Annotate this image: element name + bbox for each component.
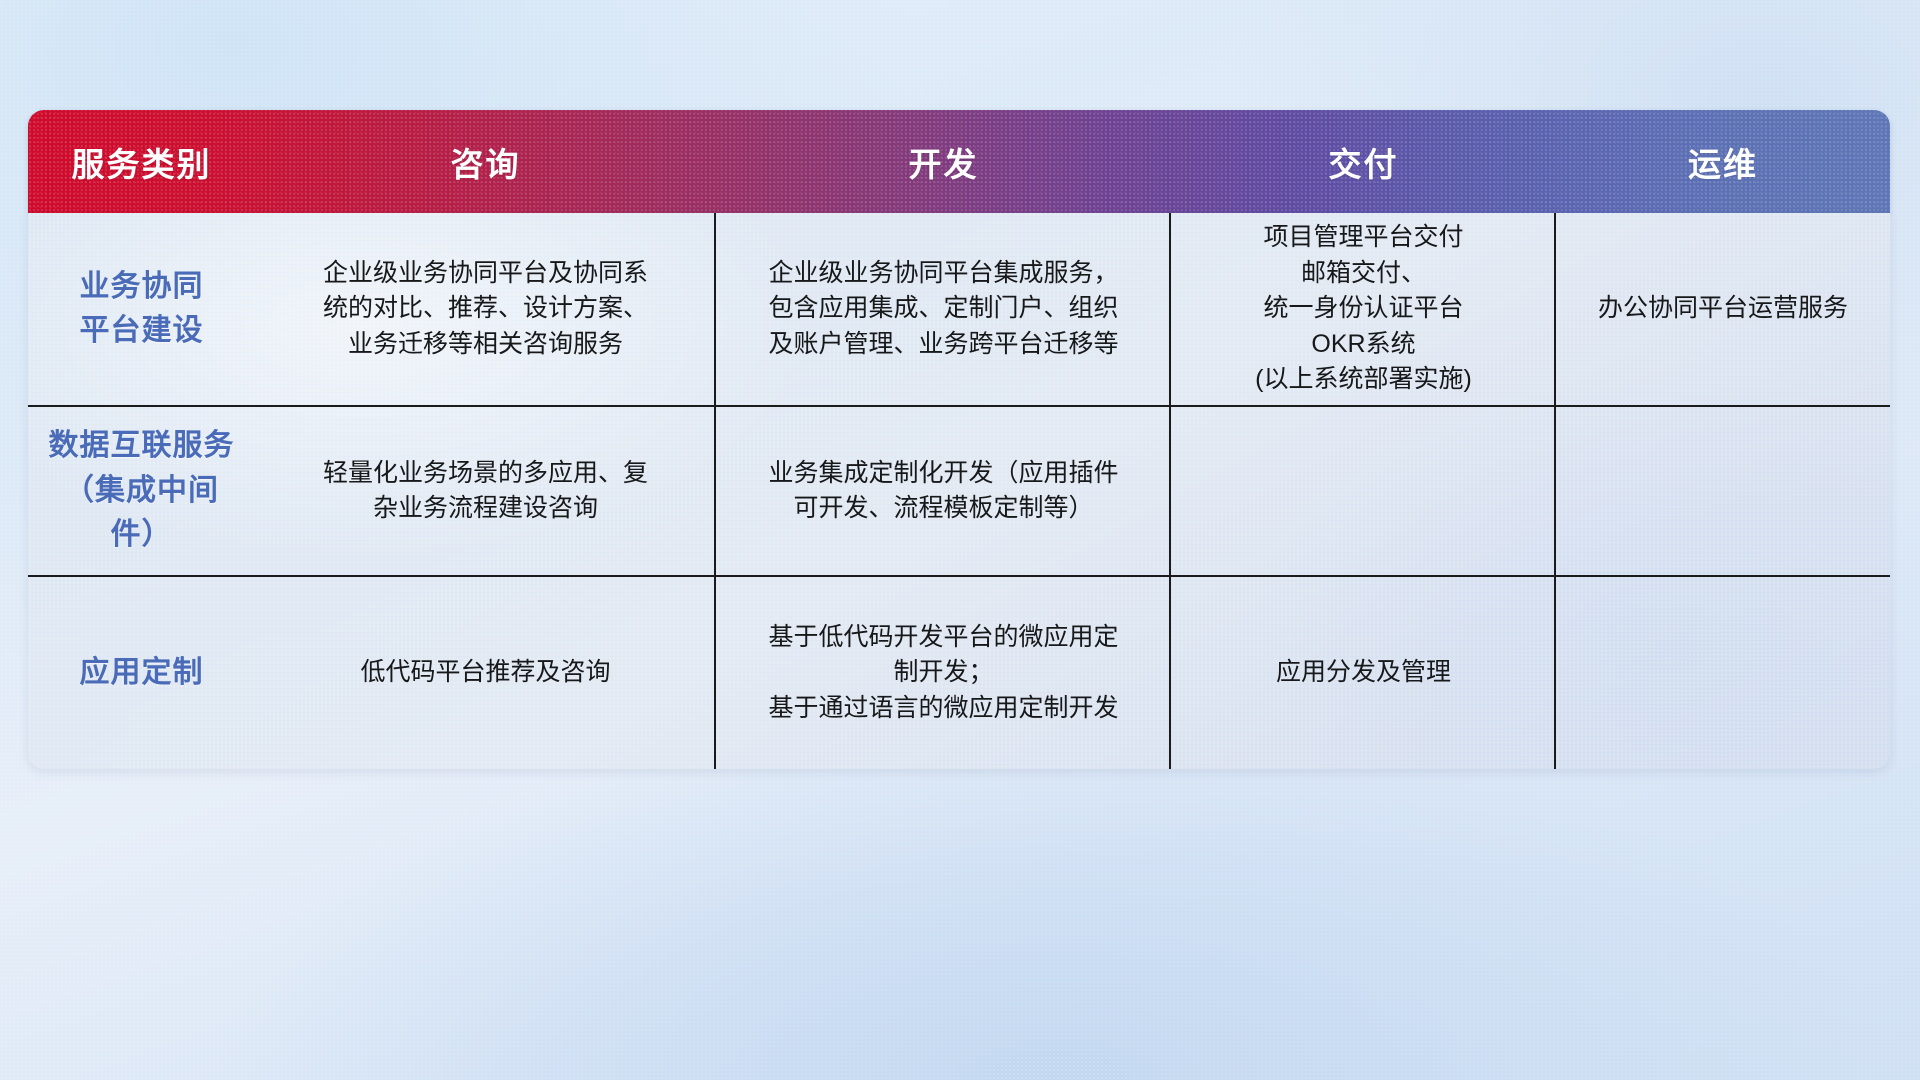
cell-development: 业务集成定制化开发（应用插件 可开发、流程模板定制等） — [716, 407, 1171, 575]
cell-development: 企业级业务协同平台集成服务， 包含应用集成、定制门户、组织 及账户管理、业务跨平… — [716, 213, 1171, 405]
column-header-development: 开发 — [716, 138, 1171, 186]
table-row: 数据互联服务 （集成中间件） 轻量化业务场景的多应用、复 杂业务流程建设咨询 业… — [28, 405, 1890, 575]
cell-operations: 办公协同平台运营服务 — [1556, 213, 1890, 405]
cell-consulting: 低代码平台推荐及咨询 — [255, 577, 716, 769]
cell-consulting: 轻量化业务场景的多应用、复 杂业务流程建设咨询 — [255, 407, 716, 575]
column-header-delivery: 交付 — [1171, 138, 1556, 186]
row-category-label: 业务协同 平台建设 — [28, 213, 255, 405]
table-header-row: 服务类别 咨询 开发 交付 运维 — [28, 110, 1890, 213]
column-header-operations: 运维 — [1556, 138, 1890, 186]
slide-canvas: 服务类别 咨询 开发 交付 运维 业务协同 平台建设 企业级业务协同平台及协同系… — [0, 0, 1920, 1080]
table-row: 应用定制 低代码平台推荐及咨询 基于低代码开发平台的微应用定 制开发； 基于通过… — [28, 575, 1890, 769]
cell-operations — [1556, 407, 1890, 575]
cell-delivery: 项目管理平台交付 邮箱交付、 统一身份认证平台 OKR系统 (以上系统部署实施) — [1171, 213, 1556, 405]
table-body: 业务协同 平台建设 企业级业务协同平台及协同系 统的对比、推荐、设计方案、 业务… — [28, 213, 1890, 769]
table-row: 业务协同 平台建设 企业级业务协同平台及协同系 统的对比、推荐、设计方案、 业务… — [28, 213, 1890, 405]
column-header-consulting: 咨询 — [255, 138, 716, 186]
cell-operations — [1556, 577, 1890, 769]
cell-consulting: 企业级业务协同平台及协同系 统的对比、推荐、设计方案、 业务迁移等相关咨询服务 — [255, 213, 716, 405]
column-header-category: 服务类别 — [28, 138, 255, 186]
service-matrix-table: 服务类别 咨询 开发 交付 运维 业务协同 平台建设 企业级业务协同平台及协同系… — [28, 110, 1890, 769]
cell-delivery — [1171, 407, 1556, 575]
row-category-label: 应用定制 — [28, 577, 255, 769]
cell-delivery: 应用分发及管理 — [1171, 577, 1556, 769]
row-category-label: 数据互联服务 （集成中间件） — [28, 407, 255, 575]
cell-development: 基于低代码开发平台的微应用定 制开发； 基于通过语言的微应用定制开发 — [716, 577, 1171, 769]
